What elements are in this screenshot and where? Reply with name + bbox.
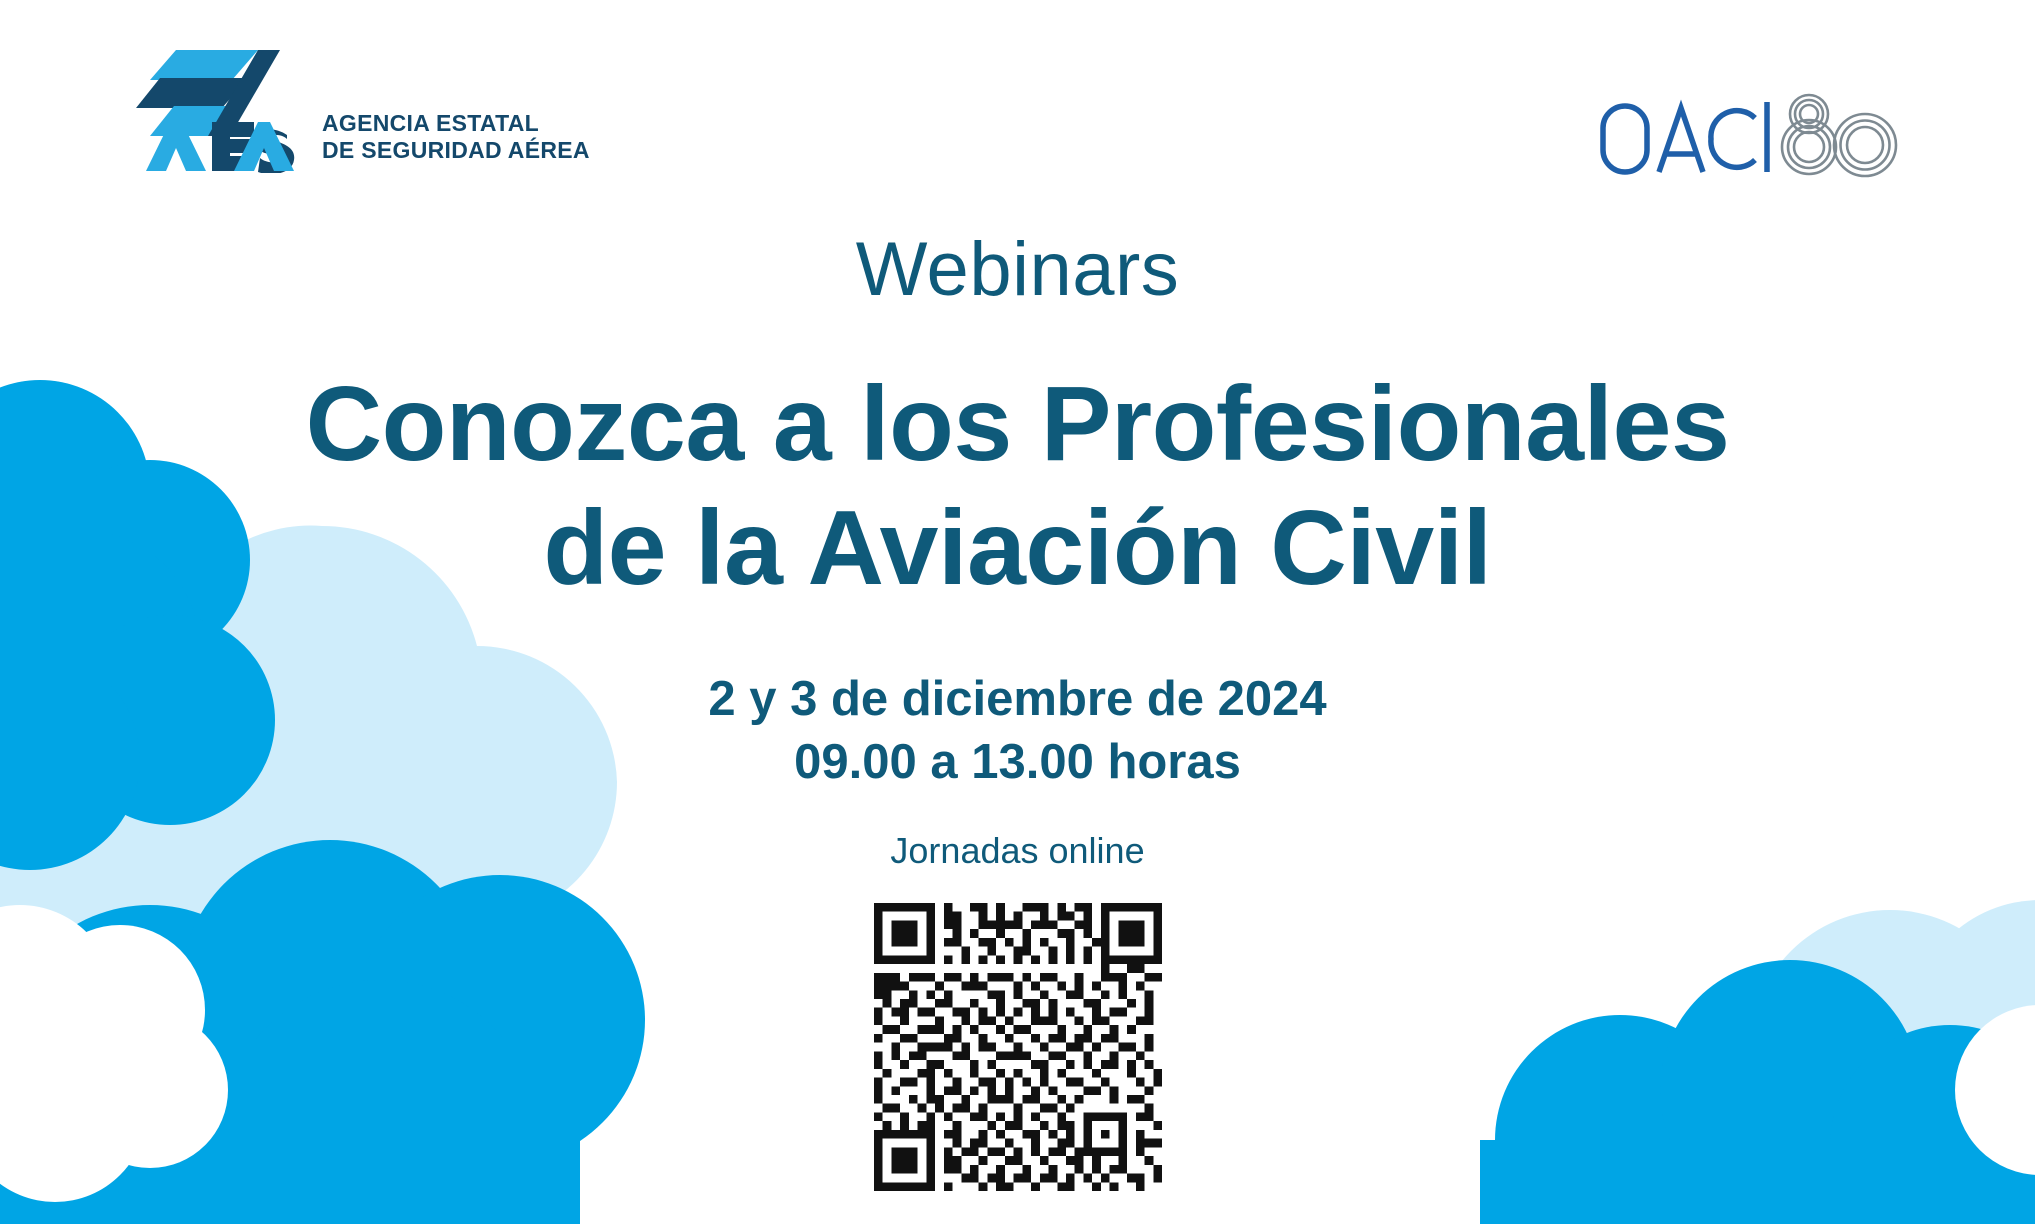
oaci-80-anniversary-icon xyxy=(1782,95,1896,176)
kicker-webinars: Webinars xyxy=(0,232,2035,308)
oaci-logo xyxy=(1597,88,1917,183)
event-datetime: 2 y 3 de diciembre de 2024 09.00 a 13.00… xyxy=(0,668,2035,793)
qr-code[interactable] xyxy=(874,903,1162,1191)
aesa-logo: AGENCIA ESTATAL DE SEGURIDAD AÉREA xyxy=(130,38,590,173)
event-date: 2 y 3 de diciembre de 2024 xyxy=(0,668,2035,731)
page-title-line-2: de la Aviación Civil xyxy=(0,486,2035,610)
aesa-tagline: AGENCIA ESTATAL DE SEGURIDAD AÉREA xyxy=(322,110,590,173)
event-time: 09.00 a 13.00 horas xyxy=(0,731,2035,794)
page-title: Conozca a los Profesionales de la Aviaci… xyxy=(0,362,2035,610)
poster-content: Webinars Conozca a los Profesionales de … xyxy=(0,232,2035,1191)
oaci-wordmark xyxy=(1603,102,1767,172)
event-modality: Jornadas online xyxy=(0,833,2035,869)
poster-canvas: AGENCIA ESTATAL DE SEGURIDAD AÉREA xyxy=(0,0,2035,1224)
page-title-line-1: Conozca a los Profesionales xyxy=(0,362,2035,486)
aesa-logomark xyxy=(130,38,300,173)
aesa-wordmark xyxy=(146,122,294,173)
